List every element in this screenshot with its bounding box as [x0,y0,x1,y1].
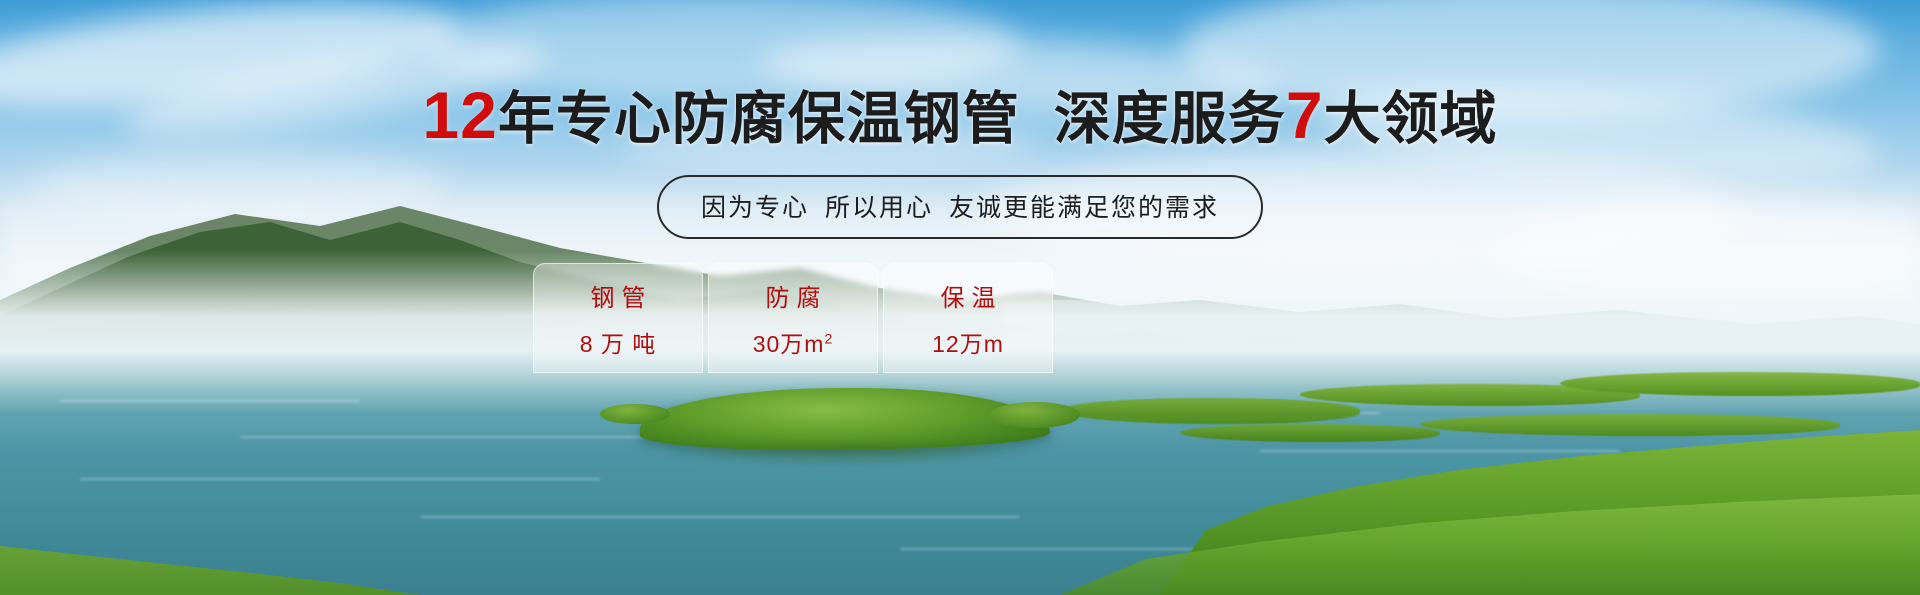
subtitle-segment-3: 友诚更能满足您的需求 [949,194,1219,222]
headline-fields-number: 7 [1286,78,1324,152]
stat-cards: 钢管 8 万 吨 防腐 30万m2 保温 12万m [533,263,1053,373]
stat-card-title: 钢管 [584,278,653,313]
stat-card-value: 8 万 吨 [580,325,657,359]
stat-card-value: 12万m [932,325,1004,359]
hero-banner: 12年专心防腐保温钢管深度服务7大领域 因为专心所以用心友诚更能满足您的需求 钢… [0,0,1920,595]
headline-years-number: 12 [422,78,497,152]
stat-card-anticorrosion[interactable]: 防腐 30万m2 [708,263,878,373]
subtitle-segment-2: 所以用心 [825,194,933,222]
stat-card-value-main: 12万m [932,331,1004,357]
stat-card-insulation[interactable]: 保温 12万m [883,263,1053,373]
stat-card-title: 防腐 [759,278,828,313]
stat-card-value-main: 30万m [753,331,825,357]
headline: 12年专心防腐保温钢管深度服务7大领域 [422,82,1497,148]
stat-card-value-superscript: 2 [824,330,833,346]
stat-card-value-main: 8 万 吨 [580,331,657,357]
subtitle-segment-1: 因为专心 [701,194,809,222]
headline-text-secondary: 深度服务 [1054,87,1286,151]
subtitle-pill: 因为专心所以用心友诚更能满足您的需求 [657,175,1263,239]
headline-text-primary: 年专心防腐保温钢管 [498,87,1020,151]
stat-card-steel-pipe[interactable]: 钢管 8 万 吨 [533,263,703,373]
stat-card-value: 30万m2 [753,325,834,359]
stat-card-title: 保温 [934,278,1003,313]
headline-text-tertiary: 大领域 [1324,87,1498,151]
